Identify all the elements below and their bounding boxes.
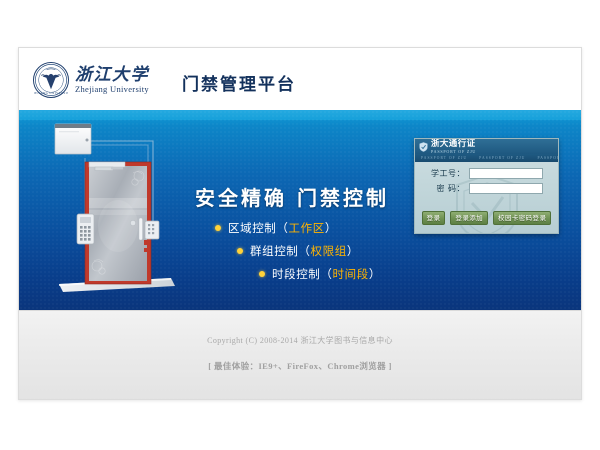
banner-headline: 安全精确 门禁控制 [195, 182, 389, 211]
passport-watermark-strip: PASSPORT OF ZJU PASSPORT OF ZJU PASSPORT… [415, 154, 558, 162]
browser-support-text: [ 最佳体验：IE9+、FireFox、Chrome浏览器 ] [19, 360, 581, 372]
brand-block: ZHEJIANG UNIVERSITY 浙江大学 Zhejiang Univer… [33, 62, 149, 98]
password-label: 密 码： [415, 183, 469, 194]
bullet-accent: 时间段 [333, 266, 369, 282]
shield-icon [419, 142, 428, 152]
list-item: 区域控制（ 工作区 ） [215, 220, 381, 236]
university-seal-icon: ZHEJIANG UNIVERSITY [33, 62, 69, 98]
login-button-row: 登录 登录添加 校园卡密码登录 [415, 211, 558, 225]
bullet-dot-icon [237, 248, 243, 254]
passport-title-en: PASSPORT OF ZJU [431, 149, 476, 154]
login-panel: 浙大通行证 PASSPORT OF ZJU PASSPORT OF ZJU PA… [414, 138, 559, 234]
page-card: ZHEJIANG UNIVERSITY 浙江大学 Zhejiang Univer… [18, 47, 582, 400]
login-add-button[interactable]: 登录添加 [450, 211, 488, 225]
login-panel-header: 浙大通行证 PASSPORT OF ZJU [415, 139, 558, 154]
list-item: 时段控制（ 时间段 ） [259, 266, 381, 282]
strip-word: PASSPORT OF ZJU [415, 156, 473, 160]
strip-word: PASSPORT OF ZJU [532, 156, 559, 160]
feature-bullet-list: 区域控制（ 工作区 ） 群组控制（ 权限组 ） 时段控制（ 时间段 ） [215, 220, 381, 289]
brand-name-en: Zhejiang University [75, 84, 149, 95]
bullet-dot-icon [259, 271, 265, 277]
bullet-accent: 权限组 [311, 243, 347, 259]
copyright-text: Copyright (C) 2008-2014 浙江大学图书与信息中心 [19, 335, 581, 346]
bullet-label: 时段控制（ [272, 266, 333, 282]
username-input[interactable] [469, 168, 543, 179]
site-header: ZHEJIANG UNIVERSITY 浙江大学 Zhejiang Univer… [19, 48, 581, 110]
password-row: 密 码： [415, 183, 558, 194]
site-footer: Copyright (C) 2008-2014 浙江大学图书与信息中心 [ 最佳… [19, 310, 581, 400]
bullet-dot-icon [215, 225, 221, 231]
bullet-accent: 工作区 [289, 220, 325, 236]
bullet-tail: ） [347, 243, 359, 259]
login-form: 学工号： 密 码： [415, 164, 558, 194]
access-control-illustration [41, 118, 201, 308]
password-input[interactable] [469, 183, 543, 194]
brand-name-cn: 浙江大学 [75, 66, 149, 83]
brand-text: 浙江大学 Zhejiang University [75, 66, 149, 95]
username-row: 学工号： [415, 168, 558, 179]
svg-text:ZHEJIANG UNIVERSITY: ZHEJIANG UNIVERSITY [34, 91, 68, 95]
page-title: 门禁管理平台 [182, 70, 296, 95]
passport-title-cn: 浙大通行证 [431, 140, 476, 149]
username-label: 学工号： [415, 168, 469, 179]
bullet-label: 区域控制（ [228, 220, 289, 236]
login-button[interactable]: 登录 [422, 211, 446, 225]
strip-word: PASSPORT OF ZJU [473, 156, 531, 160]
hero-banner: 安全精确 门禁控制 区域控制（ 工作区 ） 群组控制（ 权限组 ） 时段控制（ … [19, 110, 581, 310]
bullet-tail: ） [325, 220, 337, 236]
list-item: 群组控制（ 权限组 ） [237, 243, 381, 259]
campus-card-login-button[interactable]: 校园卡密码登录 [493, 211, 551, 225]
bullet-tail: ） [369, 266, 381, 282]
bullet-label: 群组控制（ [250, 243, 311, 259]
